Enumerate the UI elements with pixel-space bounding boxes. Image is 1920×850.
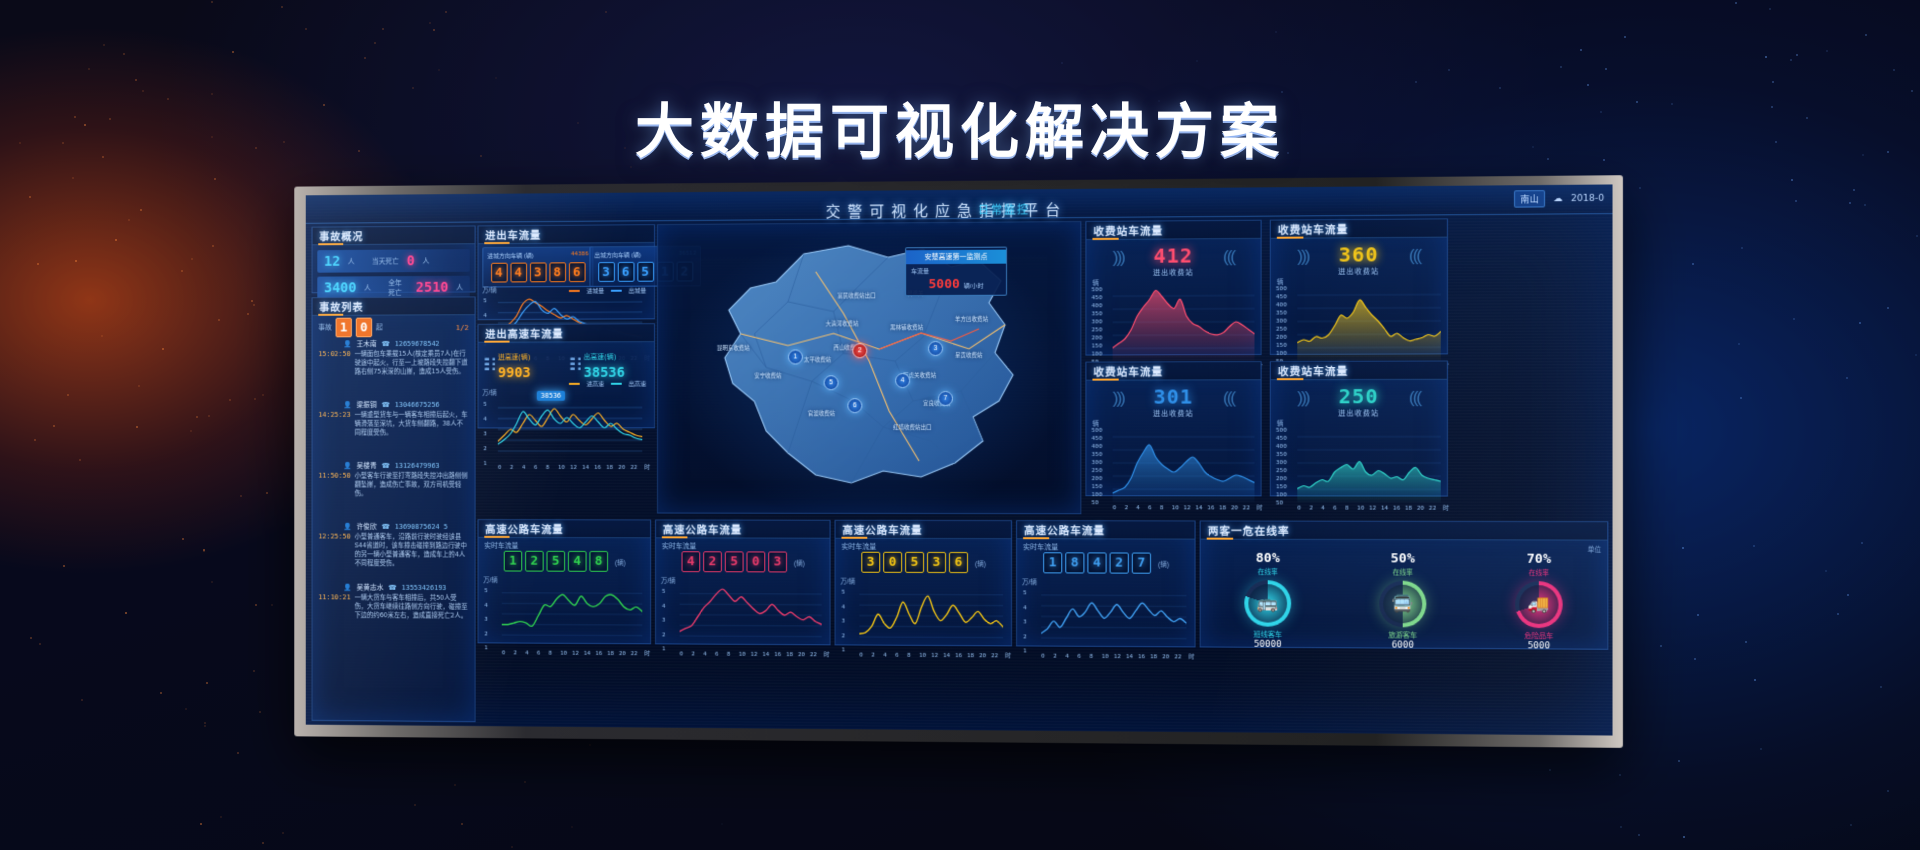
x-axis: 0246810121416182022时 — [502, 649, 643, 659]
highway-chart — [680, 583, 822, 647]
panel-title: 事故列表 — [319, 300, 363, 315]
panel-toll-flow-1: 收费站车流量)))(((412进出收费站辆5004504003503002502… — [1085, 220, 1261, 356]
accident-item-body: 15:02:50一辆面包车乘载15人(核定乘员7人)在行驶途中起火，行至一上坡路… — [318, 350, 469, 377]
highway-digit: 2 — [525, 551, 543, 572]
accident-person-name: 许俊欣 — [356, 522, 376, 532]
wave-right-icon: ((( — [1223, 388, 1234, 408]
panel-header: 两客一危在线率 — [1201, 521, 1608, 540]
map-tooltip-key: 车流量 — [911, 266, 929, 275]
map-city-label: 安宁收费站 — [754, 371, 781, 379]
panel-title: 进出车流量 — [485, 228, 541, 243]
panel-header: 高速公路车流量 — [836, 521, 1012, 539]
highway-chart — [498, 397, 642, 462]
toll-chart — [1297, 423, 1440, 502]
panel-title: 收费站车流量 — [1093, 223, 1163, 239]
highway-digit: 3 — [927, 552, 946, 573]
panel-accident-overview: 事故概况12人当天死亡0人3400人全年死亡2510人 — [312, 225, 476, 293]
highway-digit: 0 — [747, 551, 766, 572]
y-axis-unit: 万/辆 — [482, 387, 496, 397]
highway-sub-label: 实时车流量 — [1023, 542, 1058, 552]
online-rate-item[interactable]: 70%在线率🚚危险品车5000 — [1489, 552, 1588, 652]
accident-item-head: 👤吴楼青☎13126479963 — [318, 461, 469, 471]
panel-body: )))(((250进出收费站辆5004504003503002502001501… — [1271, 379, 1447, 496]
panel-header: 收费站车流量 — [1271, 362, 1447, 381]
panel-accident-list: 事故列表事故10起1/2👤王木南☎1265967854215:02:50一辆面包… — [312, 296, 476, 722]
accident-list-item[interactable]: 👤吴黄志水☎1355342619311:10:21一辆大货车与客车相撞后，共50… — [318, 583, 469, 621]
accident-item-head: 👤吴黄志水☎13553426193 — [318, 583, 469, 593]
highway-sub-label: 实时车流量 — [662, 541, 696, 551]
highway-flow-value: 9903 — [498, 365, 531, 381]
stat-label: 当天死亡 — [372, 256, 399, 266]
phone-icon: ☎ — [382, 340, 390, 348]
panel-body: 实时车流量12548(辆)万/辆543210246810121416182022… — [478, 537, 650, 643]
map-city-label: 昆明东收费站 — [717, 344, 750, 352]
hero-banner: 大数据可视化解决方案 交警可视化应急指挥平台 日常监控 南山 ☁ 2018-0 … — [0, 0, 1920, 850]
online-rate-count: 5000 — [1489, 641, 1588, 652]
dashboard-mode-label[interactable]: 日常监控 — [978, 201, 1030, 217]
panel-body: ■■■■■■■■■进高速(辆)9903■■■■■■■■■出高速(辆)38536进… — [478, 341, 654, 427]
map-tooltip: 安楚高速第一监测点车流量5000辆/小时 — [905, 247, 1007, 297]
legend-label: 进高速 — [586, 379, 604, 388]
flow-group: 进城方向车辆 (辆)4438644386 — [482, 246, 593, 287]
panel-body: 12人当天死亡0人3400人全年死亡2510人 — [313, 243, 475, 292]
panel-body: )))(((301进出收费站辆5004504003503002502001501… — [1086, 379, 1260, 495]
accident-text: 一辆重型货车与一辆客车相撞后起火，车辆滑落至深坑，大货车侧翻路，38人不同程度受… — [355, 411, 469, 438]
map-marker-pin[interactable]: 7 — [938, 391, 953, 406]
panel-highway-inout: 进出高速车流量■■■■■■■■■进高速(辆)9903■■■■■■■■■出高速(辆… — [478, 323, 656, 428]
stat-label: 全年死亡 — [388, 278, 408, 298]
phone-icon: ☎ — [382, 462, 390, 470]
stat-value: 3400 — [324, 280, 356, 296]
y-axis: 54321 — [662, 585, 666, 657]
highway-digit: 5 — [725, 551, 744, 572]
accident-item-body: 11:10:21一辆大货车与客车相撞后，共50人受伤，大货车继续往路侧方向行驶，… — [318, 593, 469, 620]
highway-chart — [502, 582, 643, 646]
map-city-label: 官渡收费站 — [808, 409, 835, 417]
y-axis: 50045040035030025020015010050 — [1091, 427, 1102, 507]
online-rate-pct: 50% — [1354, 551, 1453, 567]
flow-group-label: 进城方向车辆 (辆)44386 — [487, 250, 588, 260]
panel-highway-flow-4: 高速公路车流量实时车流量18427(辆)万/辆54321024681012141… — [1016, 520, 1196, 647]
online-rate-ring: 🚚 — [1515, 581, 1563, 628]
panel-toll-flow-3: 收费站车流量)))(((301进出收费站辆5004504003503002502… — [1085, 361, 1261, 496]
online-rate-item[interactable]: 50%在线率🚍旅游客车6000 — [1354, 551, 1453, 651]
stat-unit: 人 — [348, 256, 355, 266]
panel-header: 收费站车流量 — [1086, 362, 1260, 381]
panel-title: 高速公路车流量 — [842, 523, 922, 538]
panel-toll-flow-4: 收费站车流量)))(((250进出收费站辆5004504003503002502… — [1270, 360, 1448, 496]
panel-online-rate: 两客一危在线率单位80%在线率🚌班线客车5000050%在线率🚍旅游客车6000… — [1200, 520, 1609, 649]
stat-deaths: 2510 — [416, 279, 449, 295]
flow-digit: 8 — [549, 262, 566, 282]
panel-title: 收费站车流量 — [1278, 222, 1348, 238]
stat-value: 12 — [324, 253, 340, 269]
accident-page-indicator[interactable]: 1/2 — [456, 323, 469, 332]
map-city-label: 羊方凹收费站 — [955, 315, 988, 323]
counter-icon: ■■■ — [578, 357, 580, 372]
map-marker-pin[interactable]: 2 — [852, 343, 867, 358]
dashboard-screen: 交警可视化应急指挥平台 日常监控 南山 ☁ 2018-0 事故概况12人当天死亡… — [306, 184, 1613, 735]
map-city-label: 太平收费站 — [804, 355, 831, 363]
map-marker-pin[interactable]: 5 — [824, 375, 839, 390]
map-city-label: 富民收费站出口 — [838, 291, 876, 299]
bus-icon: 🚌 — [1257, 593, 1279, 613]
toll-caption: 进出收费站 — [1086, 409, 1260, 419]
accident-stat-row: 12人当天死亡0人 — [317, 249, 469, 273]
wave-left-icon: ))) — [1113, 248, 1124, 268]
page-title: 大数据可视化解决方案 — [0, 84, 1920, 169]
map-tooltip-title: 安楚高速第一监测点 — [906, 250, 1006, 265]
highway-digit: 4 — [568, 551, 587, 572]
stat-deaths: 0 — [407, 253, 415, 269]
accident-count-bar: 事故10起1/2 — [318, 318, 469, 336]
region-chip[interactable]: 南山 — [1514, 190, 1545, 208]
panel-title: 高速公路车流量 — [485, 522, 563, 537]
accident-list-item[interactable]: 👤王木南☎1265967854215:02:50一辆面包车乘载15人(核定乘员7… — [318, 339, 469, 377]
panel-title: 事故概况 — [319, 229, 363, 244]
accident-item-head: 👤王木南☎12659678542 — [318, 339, 469, 349]
y-axis-unit: 万/辆 — [1022, 576, 1037, 586]
y-axis-unit: 万/辆 — [483, 574, 497, 584]
toll-bigstat: )))(((360进出收费站 — [1271, 242, 1447, 278]
highway-digits-unit: (辆) — [794, 557, 805, 567]
accident-count-digit: 1 — [336, 318, 352, 338]
highway-flow-label: 出高速(辆) — [584, 353, 617, 361]
accident-phone: 13046675256 — [395, 401, 440, 409]
accident-time: 11:10:21 — [318, 593, 350, 620]
map-city-label: 呈贡收费站 — [955, 351, 983, 359]
flow-digit: 3 — [529, 262, 546, 282]
highway-flow-legend: 进高速出高速 — [569, 379, 646, 388]
accident-time: 12:25:50 — [318, 533, 350, 568]
phone-icon: ☎ — [388, 584, 396, 592]
accident-count-unit: 起 — [376, 322, 383, 332]
panel-title: 收费站车流量 — [1093, 364, 1163, 379]
online-rate-pct: 70% — [1489, 552, 1588, 568]
accident-phone: 13126479963 — [395, 462, 440, 470]
panel-body: 实时车流量18427(辆)万/辆543210246810121416182022… — [1017, 538, 1194, 646]
panel-body: 实时车流量42503(辆)万/辆543210246810121416182022… — [656, 537, 830, 644]
x-axis: 0246810121416182022时 — [680, 650, 822, 660]
online-rate-pct: 80% — [1219, 551, 1317, 566]
person-icon: 👤 — [343, 401, 351, 409]
panel-title: 高速公路车流量 — [663, 522, 742, 537]
accident-text: 一辆面包车乘载15人(核定乘员7人)在行驶途中起火，行至一上坡路段失控翻下道路右… — [355, 350, 469, 377]
y-axis: 54321 — [841, 586, 845, 658]
map-marker-pin[interactable]: 6 — [847, 398, 862, 413]
accident-list-item[interactable]: 👤梁振铜☎1304667525614:25:23一辆重型货车与一辆客车相撞后起火… — [318, 400, 469, 438]
panel-body: )))(((360进出收费站辆5004504003503002502001501… — [1271, 237, 1447, 354]
legend-label: 出高速 — [629, 379, 647, 388]
coach-icon: 🚍 — [1392, 594, 1414, 614]
online-rate-count: 6000 — [1354, 640, 1453, 651]
panel-inout-flow: 进出车流量进城方向车辆 (辆)4438644386出城方向车辆 (辆)36512… — [478, 224, 656, 320]
counter-icon: ■■■■■■ — [570, 357, 574, 372]
panel-toll-flow-2: 收费站车流量)))(((360进出收费站辆5004504003503002502… — [1270, 218, 1448, 355]
person-icon: 👤 — [343, 462, 351, 470]
x-axis: 0246810121416182022时 — [1113, 504, 1255, 513]
highway-digits-unit: (辆) — [975, 558, 986, 568]
highway-chart — [859, 584, 1003, 649]
toll-caption: 进出收费站 — [1271, 266, 1447, 277]
panel-highway-flow-2: 高速公路车流量实时车流量42503(辆)万/辆54321024681012141… — [655, 519, 831, 645]
map-city-label: 黑林铺收费站 — [890, 323, 923, 331]
highway-digits: 42503(辆) — [682, 551, 805, 572]
highway-chart — [1041, 584, 1186, 649]
wave-right-icon: ((( — [1409, 388, 1420, 408]
panel-header: 高速公路车流量 — [656, 520, 830, 538]
online-rate-name: 班线客车 — [1219, 629, 1317, 640]
accident-phone: 13690875624 5 — [395, 523, 448, 531]
panel-body: 事故10起1/2👤王木南☎1265967854215:02:50一辆面包车乘载1… — [313, 314, 475, 721]
accident-time: 14:25:23 — [318, 411, 350, 438]
highway-digit: 8 — [1065, 552, 1084, 573]
panel-body: 富民收费站出口碧鸡关大清河收费站黑林铺收费站羊方凹收费站昆明东收费站安宁收费站西… — [658, 222, 1080, 513]
toll-chart — [1297, 281, 1440, 361]
highway-flow-group: ■■■■■■■■■出高速(辆)38536 — [570, 346, 625, 382]
topbar-status: 南山 ☁ 2018-0 — [1514, 190, 1604, 208]
y-axis-unit: 万/辆 — [482, 284, 496, 294]
panel-title: 高速公路车流量 — [1024, 523, 1105, 538]
highway-digits-unit: (辆) — [615, 557, 626, 567]
map-city-label: 大清河收费站 — [826, 319, 859, 327]
accident-person-name: 梁振铜 — [356, 400, 376, 410]
accident-item-head: 👤许俊欣☎13690875624 5 — [318, 522, 469, 532]
panel-map[interactable]: 富民收费站出口碧鸡关大清河收费站黑林铺收费站羊方凹收费站昆明东收费站安宁收费站西… — [657, 221, 1081, 514]
online-rate-items: 80%在线率🚌班线客车5000050%在线率🚍旅游客车600070%在线率🚚危险… — [1201, 551, 1608, 652]
accident-person-name: 吴黄志水 — [356, 583, 383, 593]
online-rate-pct-label: 在线率 — [1354, 566, 1453, 576]
highway-flow-label: 进高速(辆) — [498, 353, 531, 361]
wave-left-icon: ))) — [1297, 388, 1308, 408]
online-rate-count: 50000 — [1219, 639, 1317, 650]
accident-count-digit: 0 — [356, 318, 372, 338]
toll-chart — [1113, 424, 1255, 503]
accident-time: 11:50:50 — [318, 472, 350, 499]
phone-icon: ☎ — [382, 401, 390, 409]
person-icon: 👤 — [343, 523, 351, 531]
online-rate-name: 旅游客车 — [1354, 630, 1453, 641]
toll-chart — [1113, 282, 1255, 361]
y-axis-unit: 万/辆 — [661, 575, 676, 585]
y-axis: 50045040035030025020015010050 — [1091, 286, 1102, 366]
highway-sub-label: 实时车流量 — [484, 541, 518, 551]
flow-digit: 6 — [617, 262, 634, 282]
accident-count-label: 事故 — [318, 323, 331, 333]
flow-digit: 4 — [491, 263, 508, 283]
y-axis: 54321 — [1023, 586, 1027, 659]
flow-digit: 3 — [598, 262, 615, 282]
weather-icon: ☁ — [1553, 194, 1562, 204]
highway-digit: 4 — [1087, 552, 1106, 573]
highway-digit: 5 — [547, 551, 566, 572]
counter-icon: ■■■■■■ — [484, 357, 488, 372]
stat-unit: 人 — [364, 283, 371, 293]
wave-right-icon: ((( — [1223, 247, 1234, 267]
panel-body: 进城方向车辆 (辆)4438644386出城方向车辆 (辆)3651236512… — [478, 242, 654, 319]
x-axis: 0246810121416182022时 — [859, 651, 1003, 661]
highway-digit: 3 — [768, 551, 787, 572]
x-axis: 0246810121416182022时 — [1041, 653, 1186, 663]
panel-title: 两客一危在线率 — [1208, 524, 1290, 539]
accident-item-head: 👤梁振铜☎13046675256 — [318, 400, 469, 410]
panel-body: 单位80%在线率🚌班线客车5000050%在线率🚍旅游客车600070%在线率🚚… — [1201, 539, 1608, 649]
panel-header: 事故列表 — [313, 297, 475, 315]
accident-list-item[interactable]: 👤许俊欣☎13690875624 512:25:50小型普通客车，沿路前行驶时驶… — [318, 522, 469, 569]
highway-digit: 2 — [1110, 552, 1129, 573]
map-marker-pin[interactable]: 3 — [928, 341, 943, 356]
highway-digit: 3 — [861, 552, 880, 573]
accident-person-name: 吴楼青 — [356, 461, 376, 471]
y-axis: 50045040035030025020015010050 — [1276, 285, 1287, 366]
wave-left-icon: ))) — [1297, 247, 1308, 267]
person-icon: 👤 — [343, 340, 351, 348]
online-rate-item[interactable]: 80%在线率🚌班线客车50000 — [1219, 551, 1317, 650]
dashboard-canvas: 交警可视化应急指挥平台 日常监控 南山 ☁ 2018-0 事故概况12人当天死亡… — [306, 184, 1613, 735]
panel-header: 进出高速车流量 — [478, 324, 654, 342]
accident-text: 小型普通客车，沿路前行驶时驶经该县S44省道时，该车撞击碰撞到路边行驶中的另一辆… — [355, 533, 469, 569]
flow-digit: 5 — [637, 262, 654, 282]
highway-sub-label: 实时车流量 — [841, 542, 876, 552]
toll-bigstat: )))(((250进出收费站 — [1271, 384, 1447, 419]
online-rate-name: 危险品车 — [1489, 631, 1588, 642]
accident-text: 小型客车行驶至打弯路段失控冲出路侧侧翻坠崖，造成伤亡事故，双方司机受轻伤。 — [355, 472, 469, 499]
date-label: 2018-0 — [1571, 193, 1604, 203]
highway-flow-group: ■■■■■■■■■进高速(辆)9903 — [484, 346, 530, 382]
y-axis-unit: 万/辆 — [840, 576, 855, 586]
y-axis: 54321 — [484, 584, 488, 655]
map-tooltip-unit: 辆/小时 — [964, 281, 984, 290]
map-canvas[interactable]: 富民收费站出口碧鸡关大清河收费站黑林铺收费站羊方凹收费站昆明东收费站安宁收费站西… — [658, 222, 1080, 513]
phone-icon: ☎ — [382, 523, 390, 531]
toll-bigstat: )))(((412进出收费站 — [1086, 243, 1260, 278]
highway-digit: 5 — [905, 552, 924, 573]
flow-digit: 4 — [510, 263, 527, 283]
highway-digit: 4 — [682, 551, 701, 572]
highway-digits: 18427(辆) — [1043, 552, 1169, 574]
highway-digits-unit: (辆) — [1158, 558, 1169, 568]
stat-deaths-unit: 人 — [423, 256, 430, 266]
map-city-label: 红塔收费站出口 — [893, 423, 931, 431]
x-axis: 0246810121416182022时 — [1297, 504, 1440, 513]
accident-time: 15:02:50 — [318, 350, 350, 377]
toll-caption: 进出收费站 — [1086, 267, 1260, 278]
flow-digits: 44386 — [487, 262, 588, 282]
y-axis: 50045040035030025020015010050 — [1276, 427, 1287, 508]
y-axis: 54321 — [483, 397, 487, 471]
accident-item-body: 11:50:50小型客车行驶至打弯路段失控冲出路侧侧翻坠崖，造成伤亡事故，双方司… — [318, 472, 469, 499]
stat-deaths-unit: 人 — [456, 282, 463, 292]
wave-left-icon: ))) — [1113, 389, 1124, 409]
panel-highway-flow-1: 高速公路车流量实时车流量12548(辆)万/辆54321024681012141… — [478, 519, 652, 644]
highway-digit: 2 — [703, 551, 722, 572]
panel-body: 实时车流量30536(辆)万/辆543210246810121416182022… — [836, 538, 1012, 646]
highway-digit: 6 — [949, 552, 968, 573]
x-axis: 0246810121416182022时 — [498, 464, 642, 473]
panel-body: )))(((412进出收费站辆5004504003503002502001501… — [1086, 238, 1260, 355]
accident-item-body: 12:25:50小型普通客车，沿路前行驶时驶经该县S44省道时，该车撞击碰撞到路… — [318, 533, 469, 569]
wave-right-icon: ((( — [1409, 246, 1420, 266]
counter-icon: ■■■ — [492, 357, 494, 372]
toll-caption: 进出收费站 — [1271, 408, 1447, 418]
highway-digit: 8 — [589, 551, 608, 572]
panel-title: 收费站车流量 — [1278, 364, 1348, 379]
accident-list-item[interactable]: 👤吴楼青☎1312647996311:50:50小型客车行驶至打弯路段失控冲出路… — [318, 461, 469, 498]
highway-digits: 30536(辆) — [861, 552, 986, 573]
flow-digit: 6 — [568, 262, 585, 282]
accident-phone: 13553426193 — [402, 584, 447, 592]
highway-digit: 0 — [883, 552, 902, 573]
online-rate-pct-label: 在线率 — [1489, 567, 1588, 578]
accident-person-name: 王木南 — [356, 339, 376, 349]
hazmat-truck-icon: 🚚 — [1528, 594, 1550, 614]
person-icon: 👤 — [343, 584, 351, 592]
map-tooltip-value: 5000 — [929, 277, 960, 292]
online-rate-ring: 🚌 — [1244, 580, 1291, 627]
panel-header: 高速公路车流量 — [1017, 521, 1194, 539]
toll-bigstat: )))(((301进出收费站 — [1086, 384, 1260, 419]
highway-digit: 1 — [504, 551, 522, 572]
highway-digits: 12548(辆) — [504, 551, 626, 572]
accident-phone: 12659678542 — [395, 340, 440, 348]
map-marker-pin[interactable]: 4 — [895, 373, 910, 388]
online-rate-pct-label: 在线率 — [1219, 566, 1317, 576]
panel-title: 进出高速车流量 — [485, 327, 563, 342]
panel-highway-flow-3: 高速公路车流量实时车流量30536(辆)万/辆54321024681012141… — [835, 520, 1013, 647]
online-rate-ring: 🚍 — [1379, 581, 1426, 628]
map-marker-pin[interactable]: 1 — [788, 349, 803, 364]
panel-header: 高速公路车流量 — [478, 520, 650, 538]
highway-digit: 1 — [1043, 552, 1062, 573]
accident-text: 一辆大货车与客车相撞后，共50人受伤，大货车继续往路侧方向行驶，碰撞至下边的约6… — [355, 594, 469, 621]
accident-item-body: 14:25:23一辆重型货车与一辆客车相撞后起火，车辆滑落至深坑，大货车侧翻路，… — [318, 411, 469, 438]
highway-digit: 7 — [1132, 553, 1151, 574]
